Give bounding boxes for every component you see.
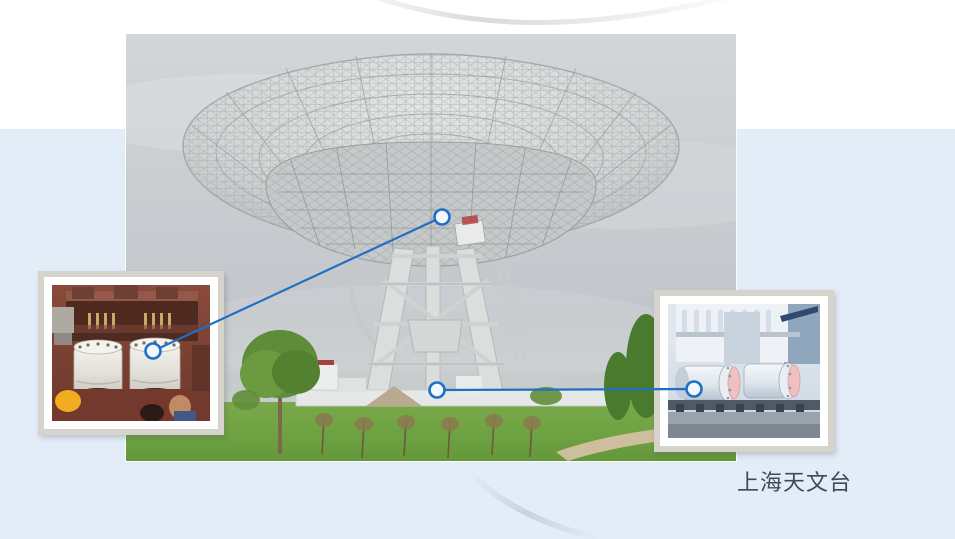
inset-photo-right-drive-assembly — [654, 290, 834, 452]
slide-canvas: 上海天文台 — [0, 0, 955, 539]
inset-right-image — [668, 304, 820, 438]
inset-left-image — [52, 285, 210, 421]
caption-label: 上海天文台 — [737, 470, 852, 498]
inset-photo-left-drive-assembly — [38, 271, 224, 435]
